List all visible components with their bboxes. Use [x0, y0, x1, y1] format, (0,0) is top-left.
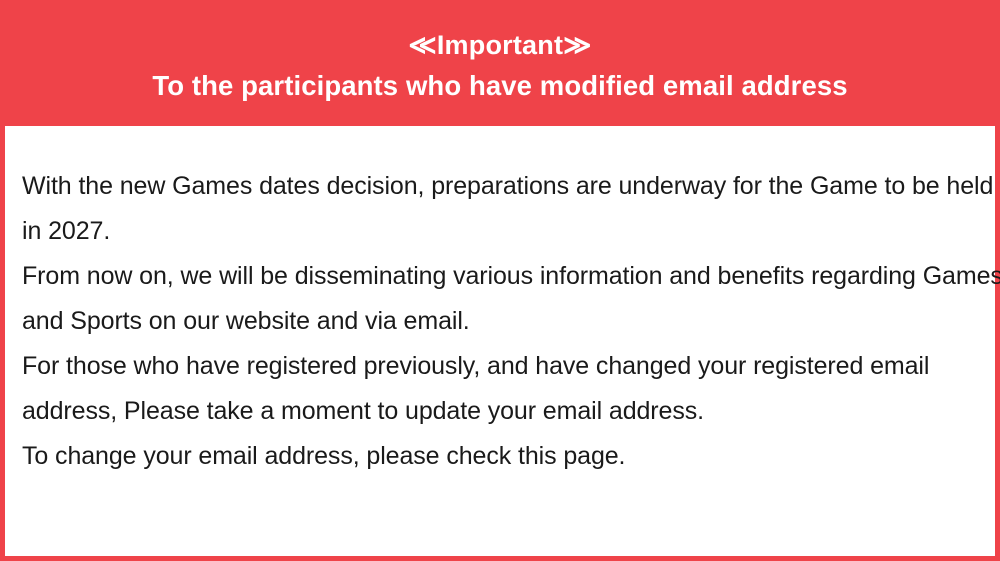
- important-notice-card: ≪Important≫ To the participants who have…: [0, 0, 1000, 561]
- notice-body-text: With the new Games dates decision, prepa…: [22, 164, 981, 479]
- notice-body: With the new Games dates decision, prepa…: [0, 126, 1000, 561]
- notice-body-line: To change your email address, please che…: [22, 434, 981, 479]
- notice-body-line: With the new Games dates decision, prepa…: [22, 164, 981, 209]
- notice-body-line: For those who have registered previously…: [22, 344, 981, 389]
- notice-header-title: ≪Important≫: [408, 25, 591, 65]
- notice-body-line: and Sports on our website and via email.: [22, 299, 981, 344]
- notice-header-banner: ≪Important≫ To the participants who have…: [0, 0, 1000, 126]
- notice-body-line: address, Please take a moment to update …: [22, 389, 981, 434]
- notice-body-line: From now on, we will be disseminating va…: [22, 254, 981, 299]
- notice-header-subtitle: To the participants who have modified em…: [152, 65, 847, 107]
- notice-body-line: in 2027.: [22, 209, 981, 254]
